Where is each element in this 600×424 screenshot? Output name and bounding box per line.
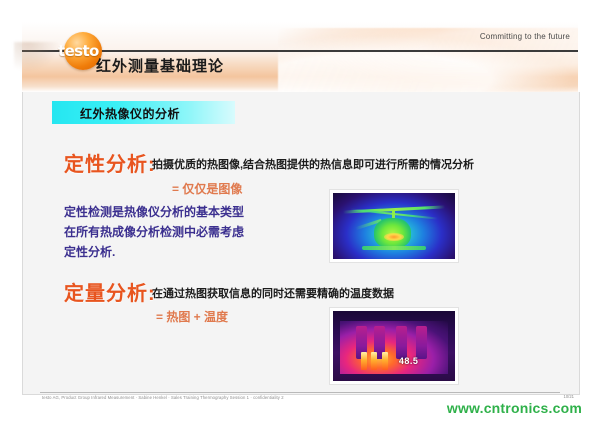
- helicopter-thermal-frame: [333, 193, 455, 259]
- hot-element: [382, 352, 388, 370]
- temperature-readout: 48.5: [399, 356, 419, 366]
- logo-shadow-decor: [14, 42, 60, 72]
- section-1-note-line-3: 定性分析.: [64, 243, 115, 260]
- footer-page-number: 10/21: [564, 394, 574, 399]
- footer-credit: testo AG, Product Group Infrared Measure…: [42, 395, 284, 400]
- engine-hotspot: [384, 233, 404, 241]
- footer-divider: [40, 392, 560, 393]
- section-2-equation: = 热图 + 温度: [156, 308, 228, 325]
- section-2-heading: 定量分析:: [64, 277, 156, 306]
- slide: Committing to the future testo 红外测量基础理论 …: [0, 0, 600, 424]
- site-watermark: www.cntronics.com: [447, 400, 582, 416]
- radiator-thermal-image: 48.5: [330, 308, 458, 384]
- company-tagline: Committing to the future: [480, 32, 570, 41]
- subtitle-label: 红外热像仪的分析: [80, 105, 180, 122]
- section-1-heading: 定性分析:: [64, 148, 156, 177]
- radiator-thermal-frame: 48.5: [333, 311, 455, 381]
- hot-element: [371, 352, 377, 370]
- panel-fin: [416, 326, 427, 358]
- landing-skid: [362, 246, 425, 250]
- helicopter-thermal-image: [330, 190, 458, 262]
- section-1-equation: = 仅仅是图像: [172, 180, 242, 197]
- section-1-heading-tail: 拍摄优质的热图像,结合热图提供的热信息即可进行所需的情况分析: [152, 156, 474, 172]
- slide-title: 红外测量基础理论: [96, 55, 224, 76]
- hot-element: [361, 352, 367, 370]
- section-1-note-line-1: 定性检测是热像仪分析的基本类型: [64, 203, 244, 220]
- section-2-heading-tail: 在通过热图获取信息的同时还需要精确的温度数据: [152, 285, 394, 301]
- section-1-note-line-2: 在所有热成像分析检测中必需考虑: [64, 223, 244, 240]
- panel-fin: [396, 326, 407, 358]
